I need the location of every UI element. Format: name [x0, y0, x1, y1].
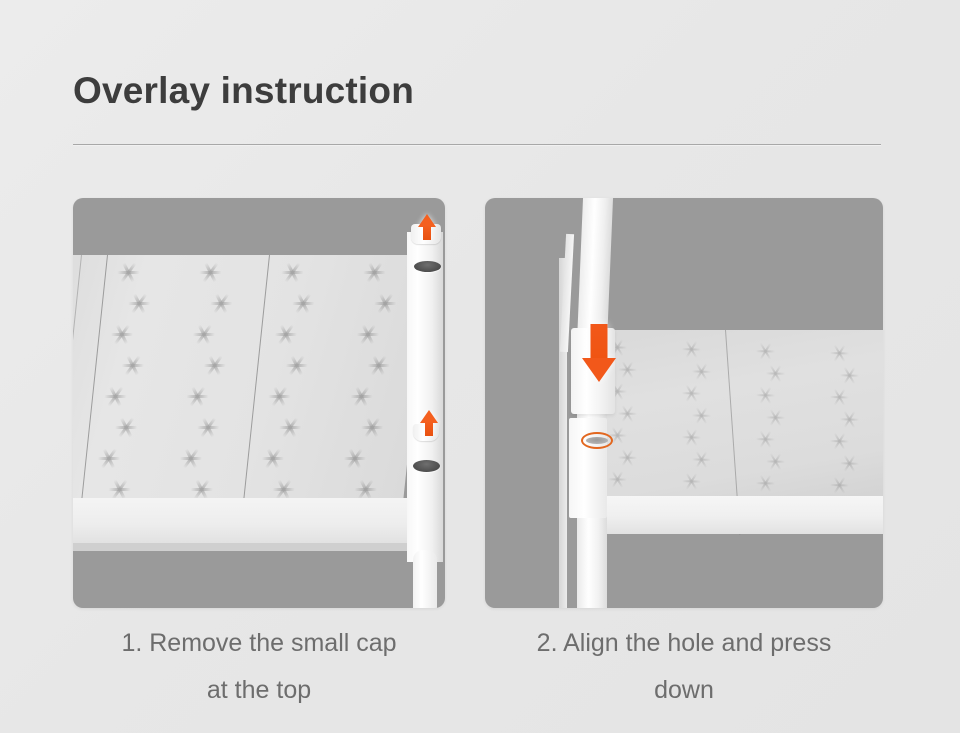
perforation-icon — [691, 448, 713, 471]
perforation-icon — [691, 404, 713, 427]
perforation-icon — [829, 430, 851, 453]
arrow-up-icon — [418, 214, 436, 240]
shelf-front-shadow — [73, 543, 413, 551]
perforation-icon — [183, 384, 212, 410]
perforation-icon — [617, 358, 639, 381]
perforation-icon — [272, 322, 301, 348]
perforation-icon — [681, 426, 703, 449]
perforation-icon — [360, 260, 389, 286]
perforation-icon — [276, 415, 305, 441]
perforation-icon — [765, 406, 787, 429]
perforation-icon — [755, 472, 777, 495]
caption-line: 1. Remove the small cap — [73, 620, 445, 667]
perforation-icon — [364, 353, 393, 379]
perforation-icon — [101, 384, 130, 410]
perforation-icon — [829, 342, 851, 365]
alignment-hole-highlight-icon — [581, 432, 613, 449]
perforation-icon — [354, 322, 383, 348]
perforation-icon — [681, 470, 703, 493]
title-divider — [73, 144, 881, 145]
perforation-icon — [371, 291, 400, 317]
perforation-icon — [358, 415, 387, 441]
perforation-icon — [190, 322, 219, 348]
pole-hole-upper — [414, 261, 441, 272]
perforation-icon — [112, 415, 141, 441]
shelf-perforation-grid — [601, 334, 883, 502]
step-2-caption: 2. Align the hole and press down — [485, 620, 883, 714]
arrow-up-icon — [420, 410, 438, 436]
perforation-icon — [95, 446, 124, 472]
instruction-page: Overlay instruction — [0, 0, 960, 733]
perforation-icon — [839, 408, 861, 431]
perforation-icon — [114, 260, 143, 286]
perforation-icon — [347, 384, 376, 410]
perforation-icon — [829, 386, 851, 409]
perforation-icon — [681, 338, 703, 361]
vertical-pole-upper — [577, 198, 613, 343]
perforation-icon — [607, 468, 629, 491]
perforation-icon — [200, 353, 229, 379]
vertical-pole-lower — [413, 550, 437, 608]
caption-line: at the top — [73, 667, 445, 714]
perforation-icon — [207, 291, 236, 317]
perforation-icon — [125, 291, 154, 317]
shelf-front-edge — [73, 498, 423, 546]
perforation-icon — [617, 446, 639, 469]
perforation-icon — [839, 452, 861, 475]
perforation-icon — [839, 364, 861, 387]
arrow-down-icon — [582, 324, 616, 382]
perforation-icon — [755, 340, 777, 363]
step-1-caption: 1. Remove the small cap at the top — [73, 620, 445, 714]
perforation-icon — [681, 382, 703, 405]
perforation-icon — [196, 260, 225, 286]
step-1-image — [73, 198, 445, 608]
perforation-icon — [765, 450, 787, 473]
perforation-icon — [691, 360, 713, 383]
perforation-icon — [118, 353, 147, 379]
page-title: Overlay instruction — [73, 70, 414, 112]
shelf-front-edge — [593, 496, 883, 534]
perforation-icon — [341, 446, 370, 472]
perforation-icon — [829, 474, 851, 497]
perforation-icon — [108, 322, 137, 348]
perforation-icon — [259, 446, 288, 472]
perforation-icon — [177, 446, 206, 472]
perforation-icon — [765, 362, 787, 385]
perforation-icon — [265, 384, 294, 410]
perforation-icon — [289, 291, 318, 317]
perforation-icon — [755, 428, 777, 451]
perforation-icon — [617, 402, 639, 425]
perforation-icon — [278, 260, 307, 286]
vertical-pole — [407, 232, 443, 562]
pole-hole-lower — [413, 460, 440, 472]
perforation-icon — [755, 384, 777, 407]
perforation-icon — [194, 415, 223, 441]
perforation-icon — [282, 353, 311, 379]
step-2-image — [485, 198, 883, 608]
caption-line: down — [485, 667, 883, 714]
caption-line: 2. Align the hole and press — [485, 620, 883, 667]
